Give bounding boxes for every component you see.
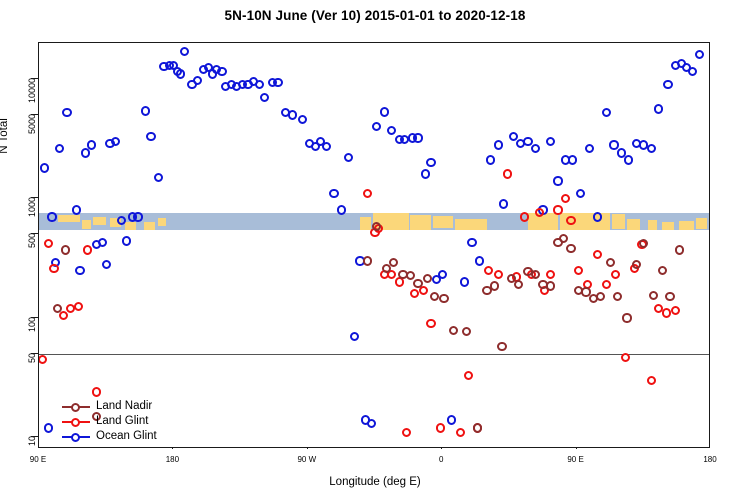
- y-axis-label: N Total: [0, 76, 10, 196]
- data-point: [49, 264, 58, 273]
- data-point: [484, 266, 493, 275]
- data-point: [531, 144, 540, 153]
- data-point: [576, 189, 585, 198]
- landmass-shape: [410, 215, 431, 230]
- landmass-shape: [82, 220, 91, 229]
- chart-root: 5N-10N June (Ver 10) 2015-01-01 to 2020-…: [0, 0, 750, 500]
- x-tick-label: 90 E: [8, 455, 68, 464]
- data-point: [658, 266, 667, 275]
- data-point: [456, 428, 465, 437]
- data-point: [559, 234, 568, 243]
- legend-item-land-glint[interactable]: Land Glint: [62, 414, 157, 429]
- data-point: [288, 110, 297, 119]
- data-point: [574, 266, 583, 275]
- data-point: [402, 428, 411, 437]
- data-point: [561, 194, 570, 203]
- landmass-shape: [433, 216, 454, 228]
- y-tick-label: 1000: [27, 197, 37, 257]
- x-tick-label: 180: [680, 455, 740, 464]
- data-point: [462, 327, 471, 336]
- data-point: [602, 108, 611, 117]
- data-point: [426, 158, 435, 167]
- x-tick-label: 0: [411, 455, 471, 464]
- data-point: [363, 189, 372, 198]
- data-point: [662, 308, 671, 317]
- data-point: [611, 270, 620, 279]
- data-point: [74, 302, 83, 311]
- data-point: [44, 423, 53, 432]
- landmass-shape: [696, 218, 707, 229]
- data-point: [663, 80, 672, 89]
- data-point: [193, 76, 202, 85]
- data-point: [473, 423, 482, 432]
- data-point: [423, 274, 432, 283]
- data-point: [647, 144, 656, 153]
- data-point: [298, 115, 307, 124]
- data-point: [585, 144, 594, 153]
- data-point: [322, 142, 331, 151]
- y-tick-label: 10: [27, 436, 37, 496]
- data-point: [490, 281, 499, 290]
- data-point: [426, 319, 435, 328]
- data-point: [520, 212, 529, 221]
- data-point: [410, 289, 419, 298]
- data-point: [421, 169, 430, 178]
- data-point: [494, 140, 503, 149]
- y-tick-mark: [31, 78, 38, 79]
- data-point: [180, 47, 189, 56]
- landmass-shape: [360, 217, 371, 229]
- data-point: [568, 155, 577, 164]
- data-point: [98, 238, 107, 247]
- data-point: [83, 245, 92, 254]
- landmass-shape: [144, 222, 155, 230]
- data-point: [649, 291, 658, 300]
- y-tick-mark: [31, 317, 38, 318]
- landmass-shape: [679, 221, 694, 231]
- y-tick-mark: [31, 197, 38, 198]
- data-point: [102, 260, 111, 269]
- data-point: [671, 306, 680, 315]
- data-point: [255, 80, 264, 89]
- data-point: [344, 153, 353, 162]
- data-point: [92, 387, 101, 396]
- data-point: [621, 353, 630, 362]
- data-point: [387, 126, 396, 135]
- data-point: [217, 67, 226, 76]
- data-point: [566, 244, 575, 253]
- data-point: [72, 205, 81, 214]
- plot-area: [38, 42, 710, 448]
- data-point: [606, 258, 615, 267]
- legend-marker-icon: [71, 403, 80, 412]
- landmass-shape: [455, 219, 487, 231]
- reference-line-50: [39, 354, 709, 355]
- data-point: [654, 104, 663, 113]
- data-point: [609, 140, 618, 149]
- data-point: [87, 140, 96, 149]
- legend-label: Ocean Glint: [96, 430, 157, 442]
- legend-marker-icon: [71, 418, 80, 427]
- data-point: [176, 69, 185, 78]
- landmass-shape: [93, 217, 106, 225]
- data-point: [329, 189, 338, 198]
- data-point: [596, 292, 605, 301]
- data-point: [475, 256, 484, 265]
- data-point: [372, 122, 381, 131]
- data-point: [380, 107, 389, 116]
- x-tick-label: 90 E: [546, 455, 606, 464]
- data-point: [154, 173, 163, 182]
- legend-label: Land Glint: [96, 415, 148, 427]
- landmass-shape: [58, 215, 80, 222]
- data-point: [367, 419, 376, 428]
- data-point: [75, 266, 84, 275]
- data-point: [436, 423, 445, 432]
- x-tick-label: 90 W: [277, 455, 337, 464]
- data-point: [593, 212, 602, 221]
- x-axis-label: Longitude (deg E): [0, 476, 750, 488]
- data-point: [688, 67, 697, 76]
- data-point: [61, 245, 70, 254]
- data-point: [273, 78, 282, 87]
- data-point: [546, 270, 555, 279]
- data-point: [260, 93, 269, 102]
- data-point: [449, 326, 458, 335]
- data-point: [430, 292, 439, 301]
- data-point: [62, 108, 71, 117]
- y-tick-label: 10000: [27, 78, 37, 138]
- data-point: [389, 258, 398, 267]
- data-point: [535, 208, 544, 217]
- data-point: [439, 294, 448, 303]
- data-point: [624, 155, 633, 164]
- y-tick-mark: [31, 436, 38, 437]
- data-point: [546, 281, 555, 290]
- data-point: [350, 332, 359, 341]
- data-point: [133, 212, 142, 221]
- data-point: [413, 133, 422, 142]
- data-point: [122, 236, 131, 245]
- data-point: [639, 239, 648, 248]
- data-point: [593, 250, 602, 259]
- data-point: [514, 280, 523, 289]
- data-point: [81, 148, 90, 157]
- data-point: [363, 256, 372, 265]
- data-point: [413, 279, 422, 288]
- data-point: [613, 292, 622, 301]
- data-point: [460, 277, 469, 286]
- legend-label: Land Nadir: [96, 400, 152, 412]
- data-point: [566, 216, 575, 225]
- landmass-shape: [662, 222, 673, 231]
- landmass-shape: [125, 222, 136, 231]
- landmass-shape: [648, 220, 657, 231]
- data-point: [494, 270, 503, 279]
- data-point: [467, 238, 476, 247]
- data-point: [337, 205, 346, 214]
- data-point: [695, 50, 704, 59]
- landmass-shape: [612, 214, 625, 228]
- data-point: [622, 313, 631, 322]
- data-point: [632, 260, 641, 269]
- data-point: [141, 106, 150, 115]
- data-point: [464, 371, 473, 380]
- data-point: [497, 342, 506, 351]
- data-point: [447, 415, 456, 424]
- landmass-shape: [158, 218, 165, 226]
- legend-item-land-nadir[interactable]: Land Nadir: [62, 399, 157, 414]
- data-point: [546, 137, 555, 146]
- data-point: [499, 199, 508, 208]
- landmass-shape: [627, 219, 640, 231]
- data-point: [675, 245, 684, 254]
- chart-title: 5N-10N June (Ver 10) 2015-01-01 to 2020-…: [0, 8, 750, 23]
- y-tick-label: 100: [27, 317, 37, 377]
- data-point: [438, 270, 447, 279]
- data-point: [602, 280, 611, 289]
- data-point: [665, 292, 674, 301]
- data-point: [44, 239, 53, 248]
- data-point: [111, 137, 120, 146]
- legend-marker-icon: [71, 433, 80, 442]
- data-point: [553, 205, 562, 214]
- x-tick-label: 180: [142, 455, 202, 464]
- data-point: [47, 212, 56, 221]
- data-point: [55, 144, 64, 153]
- data-point: [647, 376, 656, 385]
- legend-item-ocean-glint[interactable]: Ocean Glint: [62, 429, 157, 444]
- data-point: [40, 163, 49, 172]
- data-point: [117, 216, 126, 225]
- chart-legend: Land NadirLand GlintOcean Glint: [62, 399, 157, 444]
- data-point: [486, 155, 495, 164]
- data-point: [146, 132, 155, 141]
- data-point: [503, 169, 512, 178]
- data-point: [531, 270, 540, 279]
- data-point: [553, 176, 562, 185]
- data-point: [38, 355, 47, 364]
